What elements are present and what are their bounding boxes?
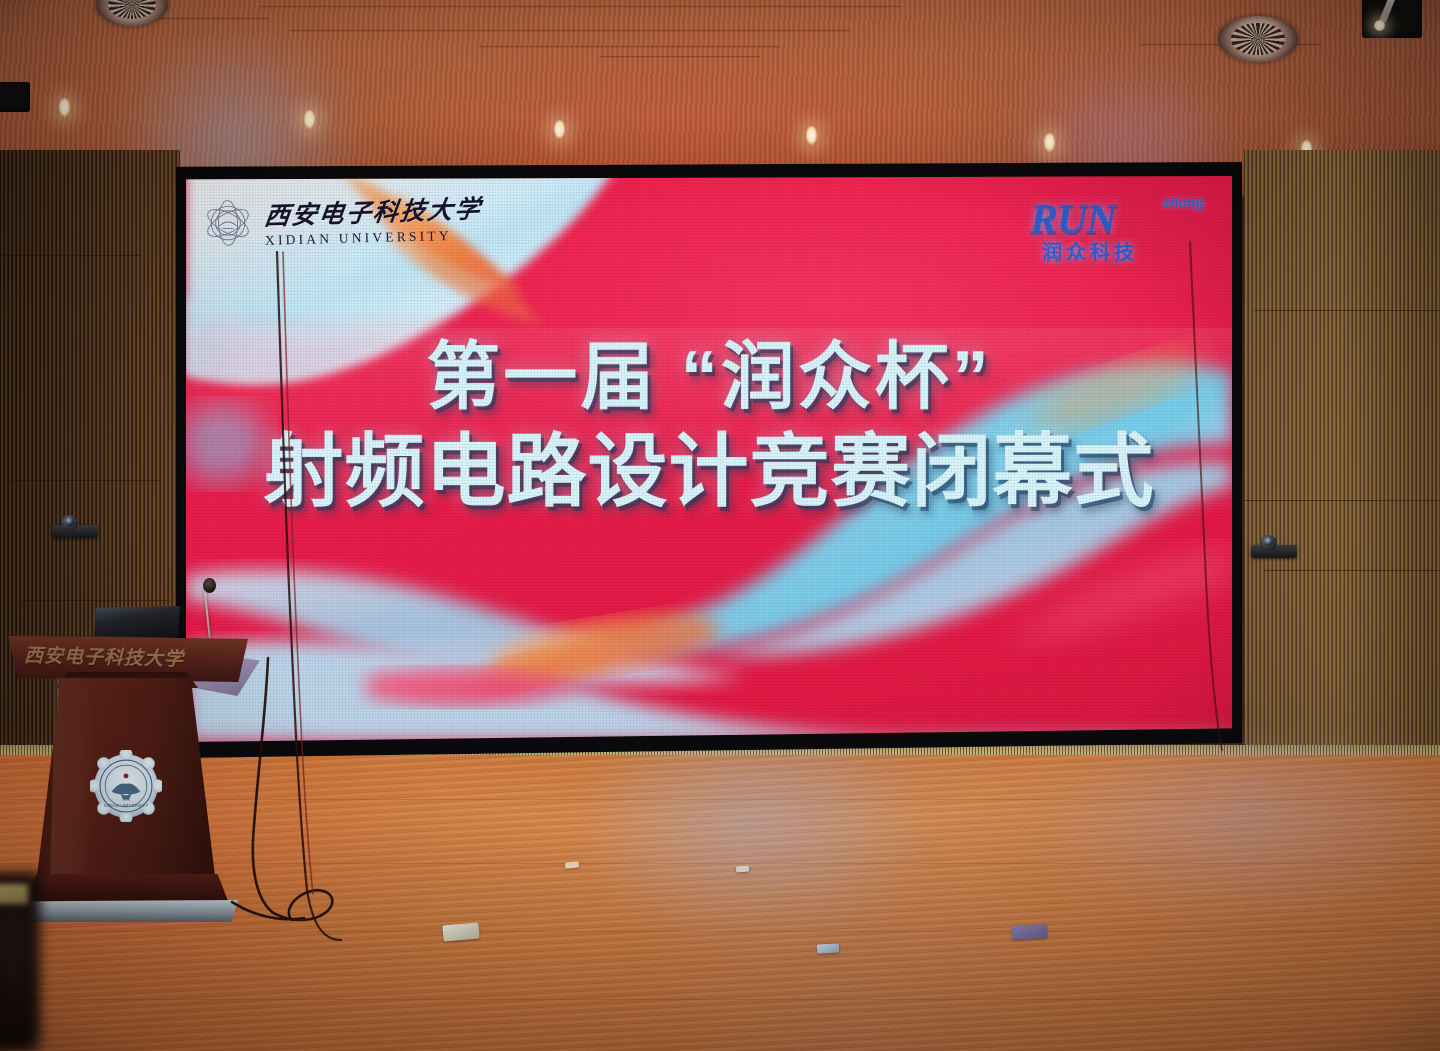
ceiling-spotlight-recess	[0, 82, 30, 112]
microphone-icon	[203, 578, 216, 593]
floor-violet-reflection	[1010, 745, 1430, 925]
ceiling-spotlight-recess	[1362, 0, 1422, 38]
school-logo: 西安电子科技大学 XIDIAN UNIVERSITY	[200, 190, 490, 256]
floor-outlet-panel	[817, 943, 839, 953]
camera-lens-icon	[65, 517, 74, 526]
ceiling-seam	[600, 56, 760, 57]
svg-text:XIDIAN UNIVERSITY: XIDIAN UNIVERSITY	[104, 803, 150, 808]
podium-body-highlight	[50, 678, 94, 884]
ptz-camera-left	[52, 516, 98, 538]
ceiling-downlight-icon	[1043, 133, 1056, 153]
foreground-object-detail	[0, 884, 28, 904]
floor-marker	[736, 866, 749, 873]
right-side-cable	[1160, 240, 1320, 760]
confidence-monitor	[94, 606, 180, 638]
school-name-block: 西安电子科技大学 XIDIAN UNIVERSITY	[265, 201, 481, 245]
floor-plank-seam	[0, 999, 1440, 1000]
ceiling-downlight-icon	[303, 110, 316, 130]
screen-power-cable	[255, 250, 455, 940]
xidian-university-emblem-icon	[200, 195, 256, 251]
ceiling-seam	[289, 30, 850, 31]
wall-seam	[10, 480, 160, 481]
ceiling-seam	[479, 46, 780, 47]
floor-blue-reflection	[600, 740, 930, 950]
ceiling-downlight-icon	[805, 126, 818, 146]
podium-emblem-icon: XIDIAN UNIVERSITY 1931	[90, 750, 162, 822]
ceiling-downlight-icon	[553, 120, 566, 140]
ceiling-seam	[260, 6, 900, 7]
auditorium-stage-photo: 西安电子科技大学 XIDIAN UNIVERSITY zhong RUN 润众科…	[0, 0, 1440, 1051]
svg-text:1931: 1931	[122, 797, 130, 801]
floor-outlet-panel	[1012, 924, 1048, 940]
spotlight-lamp-icon	[1374, 20, 1385, 31]
ceiling-vent-icon	[1218, 16, 1298, 62]
school-name-en: XIDIAN UNIVERSITY	[265, 228, 481, 247]
school-name-cn: 西安电子科技大学	[263, 197, 483, 230]
wall-seam	[0, 255, 140, 256]
sponsor-name-cn: 润众科技	[1042, 236, 1138, 265]
ceiling-downlight-icon	[58, 98, 71, 118]
sponsor-superscript: zhong	[1163, 194, 1204, 210]
wall-seam	[20, 600, 170, 601]
